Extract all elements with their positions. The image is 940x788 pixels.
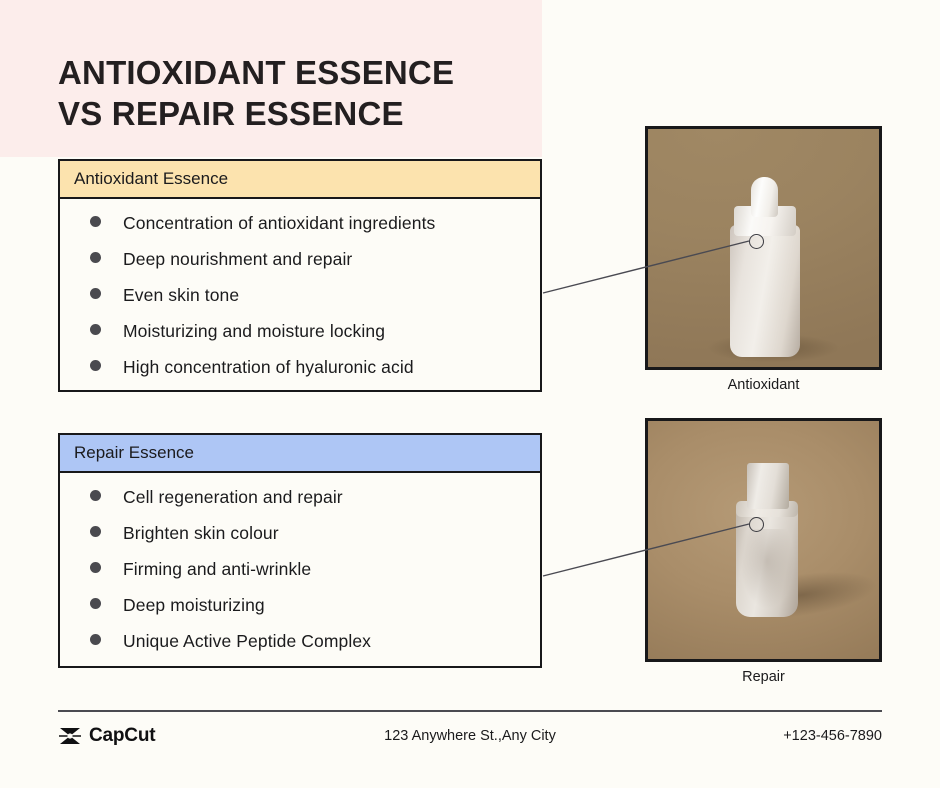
bullet-dot-icon [90,526,101,537]
comparison-card-repair: Repair Essence Cell regeneration and rep… [58,433,542,668]
bullet-dot-icon [90,360,101,371]
callout-marker-antioxidant [749,234,764,249]
footer-divider [58,710,882,712]
dropper-teat [751,177,778,217]
list-item-label: Cell regeneration and repair [123,487,343,508]
list-item: High concentration of hyaluronic acid [60,357,540,393]
list-item-label: Deep moisturizing [123,595,265,616]
card-body-antioxidant: Concentration of antioxidant ingredients… [60,199,540,393]
list-item: Even skin tone [60,285,540,321]
comparison-card-antioxidant: Antioxidant Essence Concentration of ant… [58,159,542,392]
bullet-dot-icon [90,634,101,645]
bullet-dot-icon [90,216,101,227]
bottle-cap [747,463,789,509]
callout-marker-repair [749,517,764,532]
list-item: Moisturizing and moisture locking [60,321,540,357]
brand-lockup: CapCut [58,725,338,747]
list-item: Firming and anti-wrinkle [60,559,540,595]
photo-caption-antioxidant: Antioxidant [645,377,882,393]
list-item-label: Deep nourishment and repair [123,249,352,270]
bottle-contents [740,529,794,609]
list-item: Deep moisturizing [60,595,540,631]
list-item: Deep nourishment and repair [60,249,540,285]
list-item: Unique Active Peptide Complex [60,631,540,667]
footer: CapCut 123 Anywhere St.,Any City +123-45… [58,718,882,754]
card-body-repair: Cell regeneration and repair Brighten sk… [60,473,540,667]
list-item-label: High concentration of hyaluronic acid [123,357,414,378]
product-photo-repair [645,418,882,662]
bullet-dot-icon [90,562,101,573]
capcut-logo-icon [58,726,82,746]
bullet-dot-icon [90,598,101,609]
list-item-label: Unique Active Peptide Complex [123,631,371,652]
bullet-dot-icon [90,490,101,501]
card-header-label: Antioxidant Essence [74,169,228,189]
list-item-label: Firming and anti-wrinkle [123,559,311,580]
card-header-antioxidant: Antioxidant Essence [60,161,540,199]
bullet-dot-icon [90,324,101,335]
brand-name: CapCut [89,725,155,747]
bullet-dot-icon [90,252,101,263]
bullet-dot-icon [90,288,101,299]
bottle-body [730,225,800,357]
card-header-repair: Repair Essence [60,435,540,473]
list-item: Brighten skin colour [60,523,540,559]
photo-caption-repair: Repair [645,669,882,685]
list-item-label: Moisturizing and moisture locking [123,321,385,342]
list-item-label: Even skin tone [123,285,239,306]
list-item: Cell regeneration and repair [60,487,540,523]
footer-address: 123 Anywhere St.,Any City [338,728,602,744]
list-item: Concentration of antioxidant ingredients [60,213,540,249]
list-item-label: Brighten skin colour [123,523,279,544]
card-header-label: Repair Essence [74,443,194,463]
footer-phone: +123-456-7890 [602,728,882,744]
product-photo-antioxidant [645,126,882,370]
list-item-label: Concentration of antioxidant ingredients [123,213,435,234]
page-title: ANTIOXIDANT ESSENCE VS REPAIR ESSENCE [58,52,528,134]
